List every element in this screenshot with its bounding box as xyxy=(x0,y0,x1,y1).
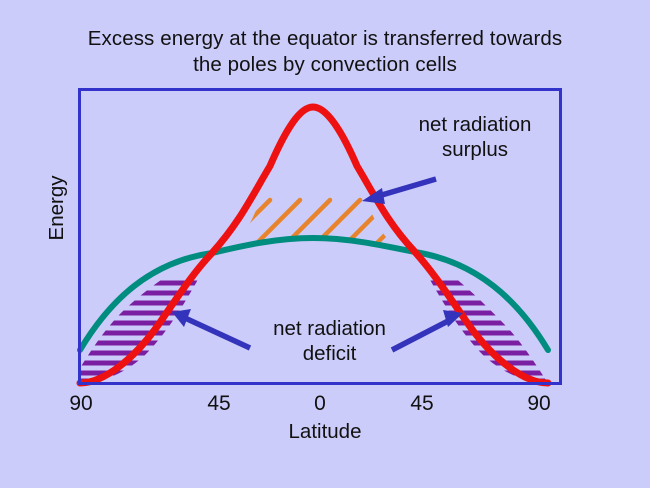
x-tick-label-1: 45 xyxy=(197,392,241,416)
surplus-label-line-1: net radiation xyxy=(380,112,570,137)
annotation-net-radiation-surplus: net radiation surplus xyxy=(380,112,570,162)
surplus-label-line-2: surplus xyxy=(380,137,570,162)
x-tick-label-3: 45 xyxy=(400,392,444,416)
x-tick-label-0: 90 xyxy=(59,392,103,416)
deficit-label-line-1: net radiation xyxy=(232,316,427,341)
deficit-label-line-2: deficit xyxy=(232,341,427,366)
slide-canvas: Excess energy at the equator is transfer… xyxy=(0,0,650,488)
x-axis-label: Latitude xyxy=(0,420,650,444)
x-tick-label-4: 90 xyxy=(517,392,561,416)
annotation-net-radiation-deficit: net radiation deficit xyxy=(232,316,427,366)
y-axis-label: Energy xyxy=(45,148,69,268)
x-tick-label-2: 0 xyxy=(298,392,342,416)
